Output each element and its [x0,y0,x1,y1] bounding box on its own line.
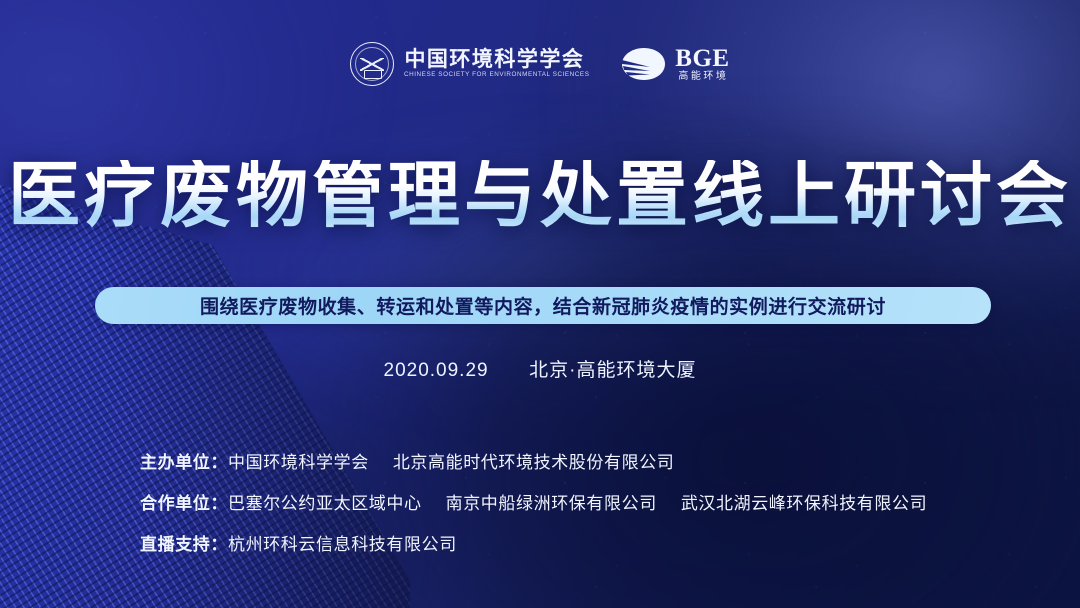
event-date: 2020.09.29 [384,360,489,381]
bge-wordmark: BGE [675,46,729,71]
organizer-value: 杭州环科云信息科技有限公司 [228,530,457,555]
logo-title-cn: 中国环境科学学会 [404,49,586,70]
seal-base-icon [364,70,382,79]
organizer-value: 北京高能时代环境技术股份有限公司 [393,448,675,473]
organizer-row-partners: 合作单位： 巴塞尔公约亚太区域中心 南京中船绿洲环保有限公司 武汉北湖云峰环保科… [140,489,927,514]
organizer-label: 主办单位： [140,448,228,473]
poster-title: 医疗废物管理与处置线上研讨会 [0,160,1080,232]
bge-swoosh-icon [620,47,666,81]
logo-title-en: CHINESE SOCIETY FOR ENVIRONMENTAL SCIENC… [404,72,589,78]
event-poster: 中国环境科学学会 CHINESE SOCIETY FOR ENVIRONMENT… [0,0,1080,608]
logo-text-block: 中国环境科学学会 CHINESE SOCIETY FOR ENVIRONMENT… [404,49,586,78]
organizer-label: 合作单位： [140,489,228,514]
organizer-list: 主办单位： 中国环境科学学会 北京高能时代环境技术股份有限公司 合作单位： 巴塞… [140,448,927,555]
logo-chinese-society-for-environmental-sciences: 中国环境科学学会 CHINESE SOCIETY FOR ENVIRONMENT… [350,42,586,86]
logo-bge: BGE 高能环境 [620,46,729,82]
organizer-values: 中国环境科学学会 北京高能时代环境技术股份有限公司 [228,448,674,473]
organizer-value: 巴塞尔公约亚太区域中心 [228,489,422,514]
organizer-values: 巴塞尔公约亚太区域中心 南京中船绿洲环保有限公司 武汉北湖云峰环保科技有限公司 [228,489,927,514]
organizer-values: 杭州环科云信息科技有限公司 [228,530,457,555]
organizer-value: 中国环境科学学会 [228,448,369,473]
organizer-row-host: 主办单位： 中国环境科学学会 北京高能时代环境技术股份有限公司 [140,448,927,473]
subtitle-text: 围绕医疗废物收集、转运和处置等内容，结合新冠肺炎疫情的实例进行交流研讨 [200,292,886,319]
subtitle-pill: 围绕医疗废物收集、转运和处置等内容，结合新冠肺炎疫情的实例进行交流研讨 [95,287,991,324]
organizer-label: 直播支持： [140,530,228,555]
organizer-value: 武汉北湖云峰环保科技有限公司 [681,489,927,514]
bge-name-cn: 高能环境 [676,72,728,82]
event-meta: 2020.09.29 北京·高能环境大厦 [0,355,1080,382]
event-venue: 北京·高能环境大厦 [529,360,696,381]
bge-text-block: BGE 高能环境 [675,46,729,82]
organizer-value: 南京中船绿洲环保有限公司 [446,489,657,514]
organizer-row-livestream: 直播支持： 杭州环科云信息科技有限公司 [140,530,927,555]
society-seal-icon [350,42,394,86]
logo-row: 中国环境科学学会 CHINESE SOCIETY FOR ENVIRONMENT… [0,42,1080,86]
